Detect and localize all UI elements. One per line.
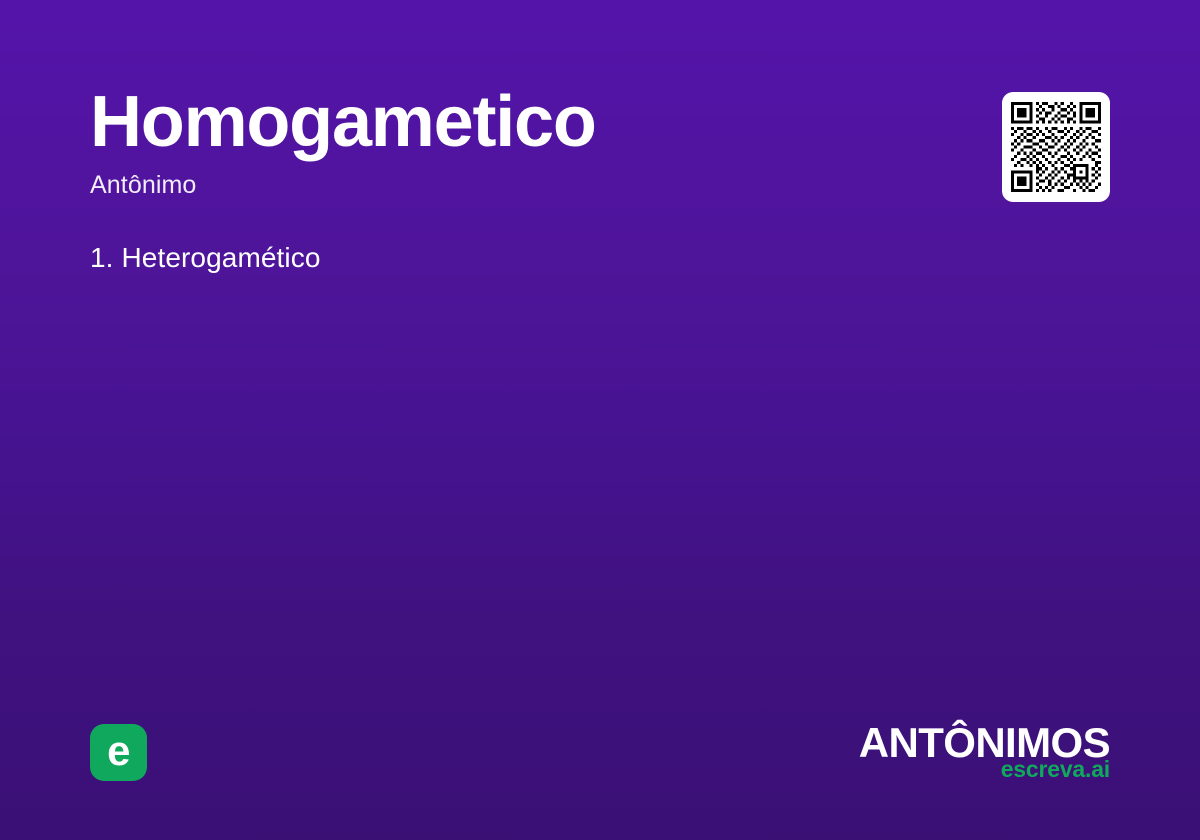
qr-code-card[interactable] [1002,92,1110,202]
qr-code-icon [1011,102,1101,192]
brand-logo-letter: e [107,730,130,772]
list-item: 1. Heterogamético [90,238,950,279]
antonym-list: 1. Heterogamético [90,238,950,279]
page-title: Homogametico [90,86,950,158]
list-item-term: Heterogamético [121,242,320,273]
brand-logo-mark[interactable]: e [90,724,147,781]
list-item-index: 1. [90,242,114,273]
brand-wordmark: ANTÔNIMOS escreva.ai [859,722,1110,781]
word-kind-label: Antônimo [90,172,950,200]
header: Homogametico Antônimo [90,86,950,200]
antonym-card: Homogametico Antônimo 1. Heterogamético [0,0,1200,840]
